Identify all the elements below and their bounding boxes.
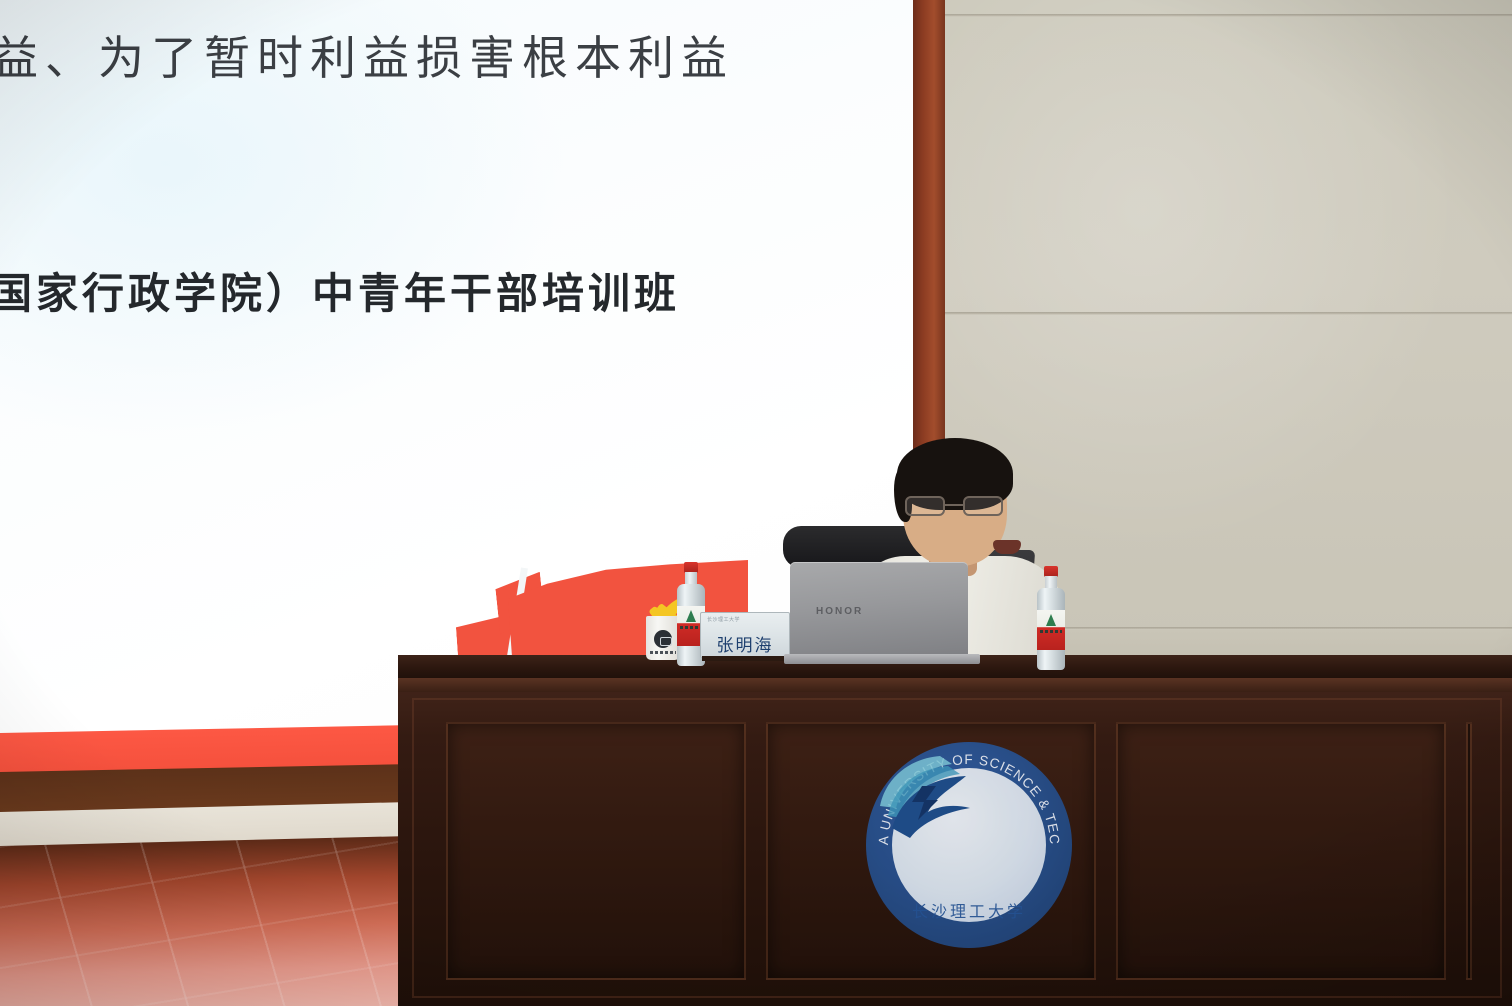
emblem-chinese-text: 长沙理工大学: [866, 898, 1072, 922]
slide-text-line-1: 益、为了暂时利益损害根本利益: [0, 22, 792, 88]
speaker-mouth: [993, 540, 1021, 554]
name-placard: 长沙理工大学 张明海: [700, 612, 790, 658]
laptop-lid: HONOR: [790, 562, 968, 658]
podium-panel: [1116, 722, 1446, 980]
bottle-label-text: [680, 626, 702, 629]
wall-seam: [945, 14, 1512, 17]
laptop-base: [784, 654, 980, 664]
glasses-left-lens: [905, 496, 945, 516]
glasses-right-lens: [963, 496, 1003, 516]
podium-panel: [1466, 722, 1472, 980]
laptop-brand-label: HONOR: [816, 606, 863, 617]
bottle-logo-icon: [686, 610, 696, 622]
glasses-icon: [905, 496, 1005, 516]
water-bottle-right: [1036, 566, 1066, 670]
laptop: HONOR: [790, 562, 968, 662]
podium-top-edge: [398, 678, 1512, 692]
placard-name-text: 张明海: [717, 637, 774, 654]
bottle-label: [1037, 610, 1065, 650]
bottle-label-text: [1040, 630, 1062, 633]
lecture-hall-photo: 益、为了暂时利益损害根本利益 国家行政学院）中青年干部培训班: [0, 0, 1512, 1006]
podium-panel: [446, 722, 746, 980]
placard-subtitle: 长沙理工大学: [707, 616, 740, 623]
wall-seam: [945, 312, 1512, 315]
emblem-swoosh-icon: [866, 742, 984, 848]
slide-text-line-2: 国家行政学院）中青年干部培训班: [0, 260, 810, 321]
placard-stand: [702, 656, 788, 661]
cup-logo-icon: [654, 630, 672, 648]
cup-caption-text: [650, 651, 676, 654]
university-emblem: CHANGSHA UNIVERSITY OF SCIENCE & TECHNOL…: [866, 742, 1072, 948]
bottle-logo-icon: [1046, 614, 1056, 626]
glasses-bridge: [945, 504, 963, 506]
paper-cup: [646, 616, 680, 660]
